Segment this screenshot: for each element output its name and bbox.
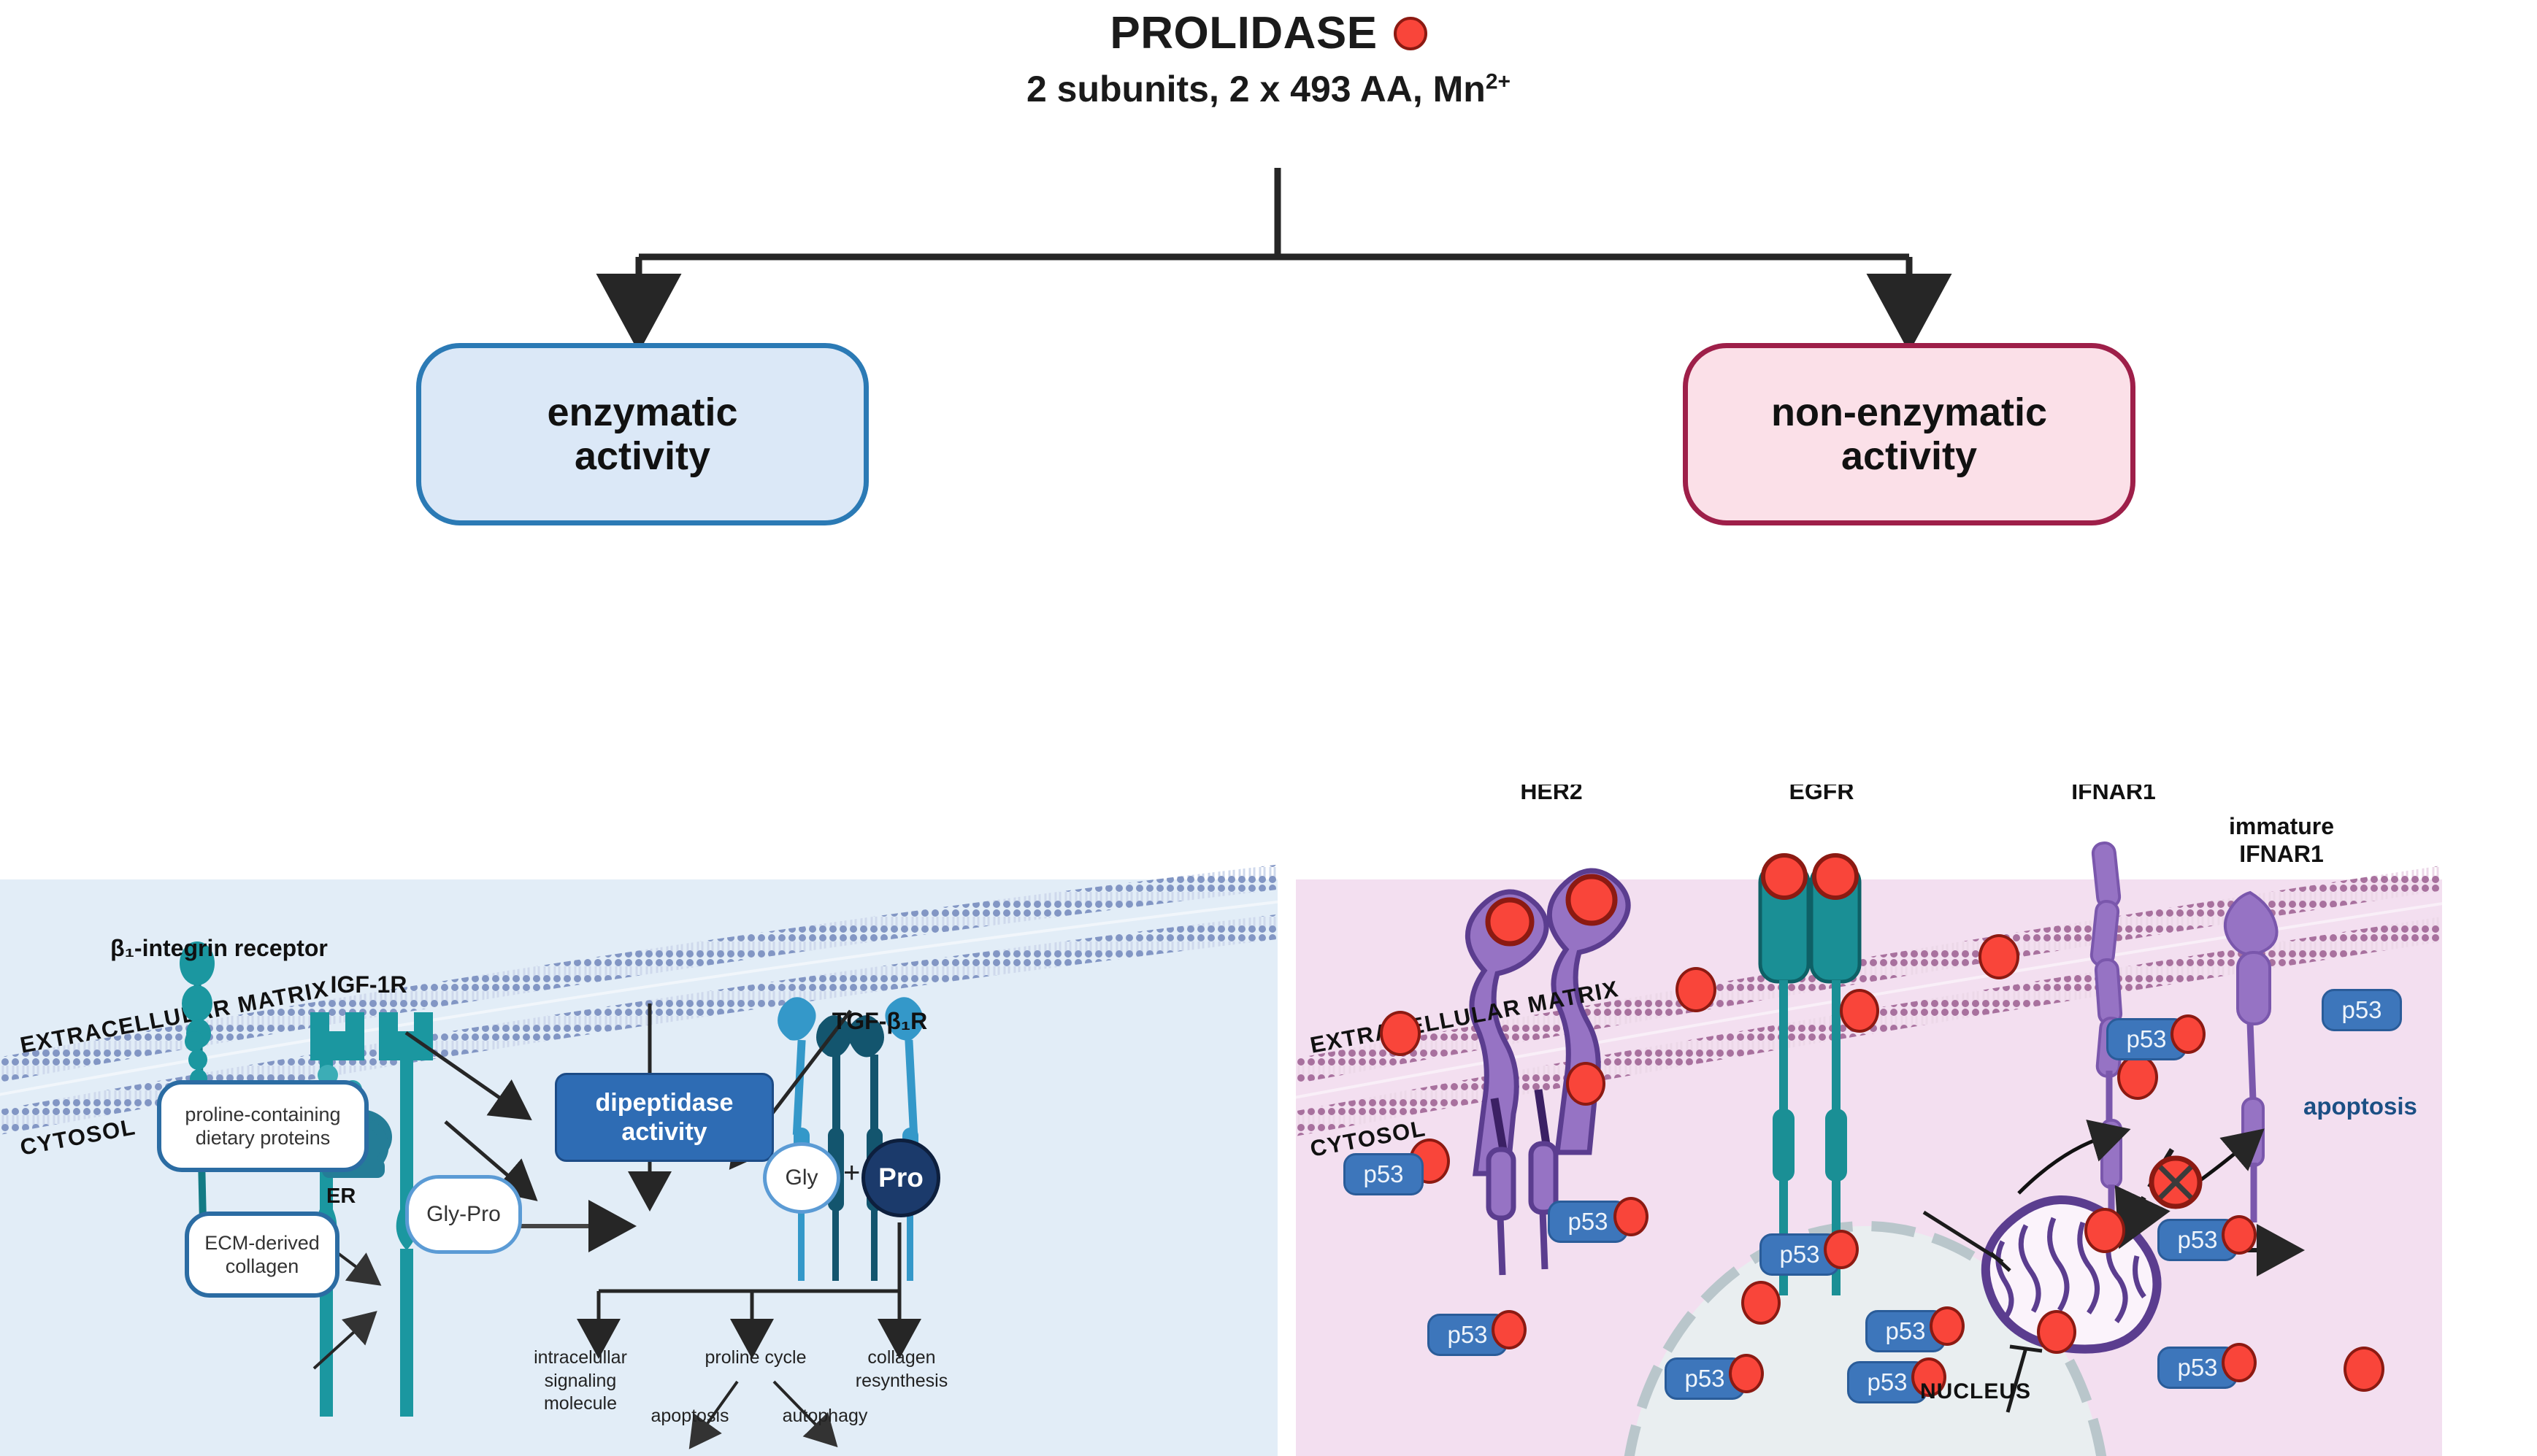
- ecm-box-line1: ECM-derived: [204, 1232, 320, 1254]
- pro-product[interactable]: Pro: [861, 1139, 940, 1217]
- immature-ifnar1-receptor-icon: [2225, 893, 2277, 1222]
- prolidase-bound-icon: [1613, 1197, 1649, 1236]
- nonenzymatic-label-line1: non-enzymatic: [1771, 390, 2047, 434]
- gly-pro-dipeptide[interactable]: Gly-Pro: [405, 1175, 522, 1254]
- enzymatic-activity-box[interactable]: enzymatic activity: [416, 343, 869, 525]
- prolidase-particle: [1840, 989, 1879, 1033]
- her2-receptor-label: HER2: [1471, 785, 1632, 805]
- p53-protein[interactable]: p53: [2322, 989, 2402, 1031]
- tgf-b1r-receptor-label: TGF-β₁R: [770, 1007, 989, 1035]
- igf-1r-receptor-label: IGF-1R: [288, 971, 449, 998]
- prolidase-bound-icon: [1729, 1354, 1764, 1393]
- blocked-prolidase-icon: [2152, 1158, 2200, 1206]
- p53-protein[interactable]: p53: [1343, 1153, 1424, 1195]
- autophagy-sub-label: autophagy: [759, 1405, 891, 1428]
- diagram-canvas: PROLIDASE 2 subunits, 2 x 493 AA, Mn2+ e…: [0, 0, 2537, 1456]
- nucleus-label: NUCLEUS: [1920, 1379, 2031, 1404]
- proline-cycle-label: proline cycle: [679, 1347, 832, 1370]
- prolidase-particle: [1380, 1011, 1421, 1056]
- prolidase-bound-icon: [1824, 1230, 1859, 1269]
- prolidase-particle: [1676, 967, 1716, 1012]
- non-enzymatic-activity-box[interactable]: non-enzymatic activity: [1683, 343, 2135, 525]
- gly-product[interactable]: Gly: [763, 1142, 840, 1214]
- proline-dietary-proteins-box[interactable]: proline-containing dietary proteins: [157, 1080, 369, 1172]
- egfr-receptor-label: EGFR: [1749, 785, 1895, 805]
- prolidase-particle: [2117, 1055, 2158, 1100]
- prolidase-bound-icon: [2171, 1014, 2206, 1054]
- apoptosis-sub-label: apoptosis: [624, 1405, 756, 1428]
- prolidase-bound-icon: [2222, 1343, 2257, 1382]
- nonenzymatic-label-line2: activity: [1841, 434, 1977, 478]
- proline-box-line2: dietary proteins: [196, 1127, 331, 1149]
- prolidase-particle: [2037, 1310, 2076, 1354]
- proline-box-line1: proline-containing: [185, 1103, 340, 1125]
- apoptosis-output-label: apoptosis: [2303, 1093, 2417, 1120]
- plus-sign: +: [843, 1157, 860, 1190]
- ecm-box-line2: collagen: [226, 1255, 299, 1277]
- prolidase-particle: [1741, 1281, 1781, 1325]
- enzymatic-label-line2: activity: [575, 434, 710, 478]
- prolidase-particle: [1978, 934, 2019, 979]
- prolidase-bound-icon: [2222, 1215, 2257, 1255]
- dipeptidase-line2: activity: [621, 1117, 707, 1147]
- prolidase-bound-icon: [1492, 1310, 1527, 1349]
- dipeptidase-activity-box[interactable]: dipeptidase activity: [555, 1073, 774, 1162]
- prolidase-particle: [2344, 1347, 2384, 1392]
- dipeptidase-line1: dipeptidase: [596, 1088, 734, 1117]
- b1-integrin-receptor-label: β₁-integrin receptor: [95, 934, 343, 962]
- er-label: ER: [326, 1185, 356, 1209]
- ifnar1-receptor-label: IFNAR1: [2026, 785, 2201, 805]
- immature-ifnar1-receptor-label: immature IFNAR1: [2194, 812, 2369, 868]
- prolidase-particle: [1566, 1062, 1605, 1106]
- prolidase-particle: [2084, 1208, 2125, 1253]
- prolidase-bound-icon: [1930, 1306, 1965, 1346]
- ecm-derived-collagen-box[interactable]: ECM-derived collagen: [185, 1212, 339, 1298]
- collagen-resynthesis-label: collagen resynthesis: [829, 1347, 975, 1393]
- enzymatic-label-line1: enzymatic: [547, 390, 737, 434]
